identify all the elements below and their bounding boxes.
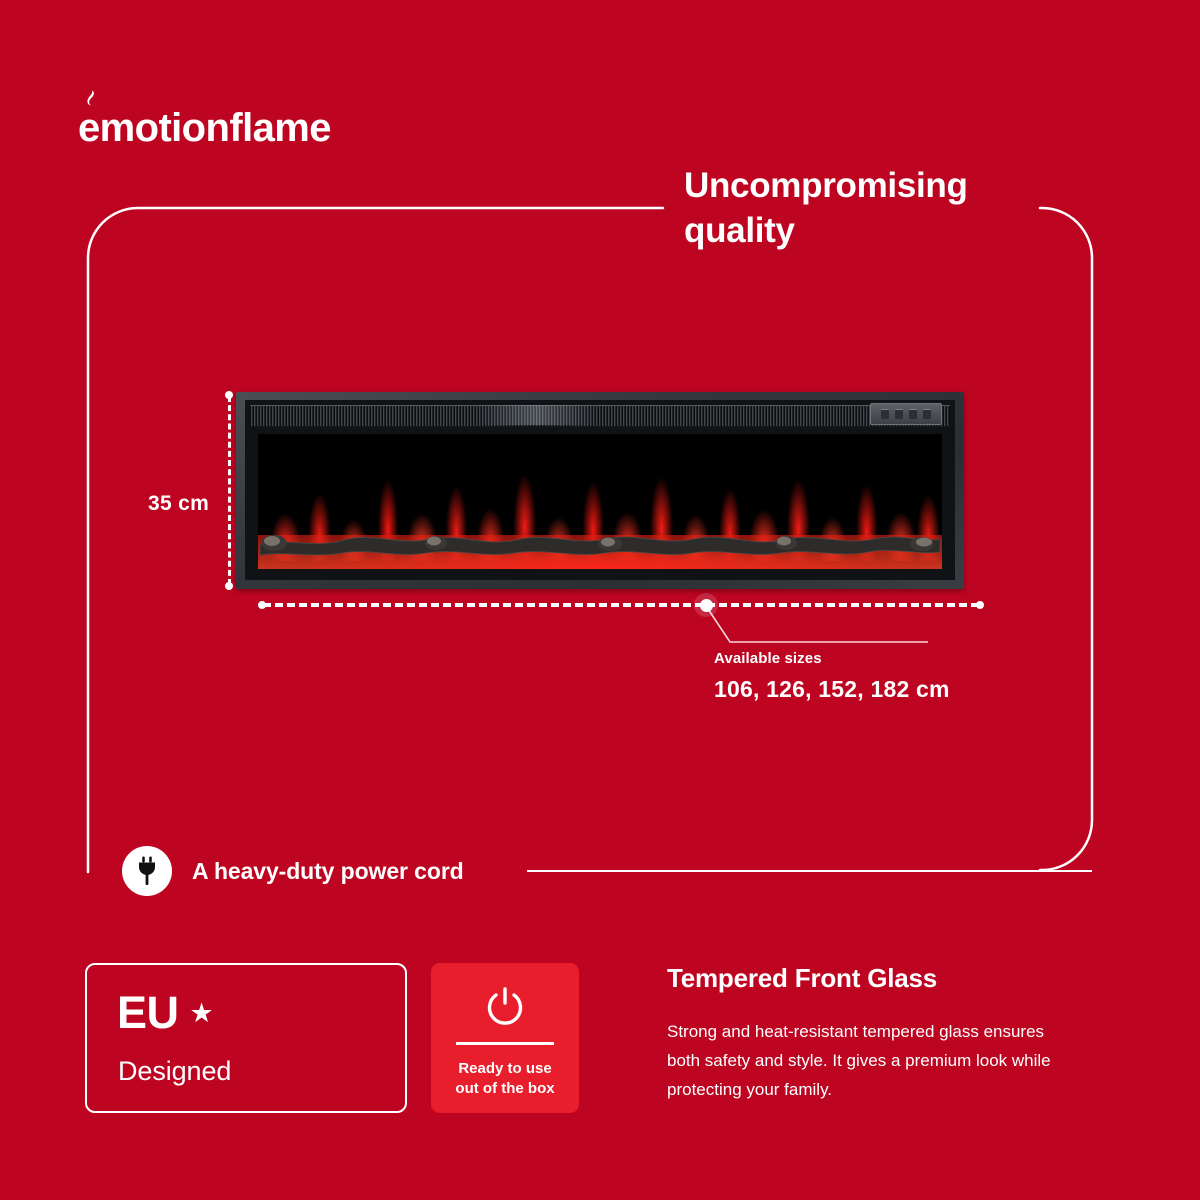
eu-heading: EU ★ bbox=[117, 990, 214, 1035]
ready-line-1: Ready to use bbox=[455, 1059, 554, 1079]
glass-title: Tempered Front Glass bbox=[667, 963, 1059, 994]
eu-subtitle: Designed bbox=[118, 1056, 231, 1087]
product-image-fireplace bbox=[236, 392, 964, 589]
dimension-endpoint-dot bbox=[976, 601, 984, 609]
brand-name: emotionflame bbox=[78, 108, 331, 148]
power-button-icon bbox=[483, 984, 527, 1028]
ready-line-2: out of the box bbox=[455, 1079, 554, 1099]
control-button bbox=[909, 409, 917, 419]
power-plug-icon bbox=[134, 856, 160, 886]
vent-grille bbox=[250, 405, 950, 427]
available-sizes-marker bbox=[694, 593, 718, 617]
control-button bbox=[895, 409, 903, 419]
dimension-endpoint-dot bbox=[225, 391, 233, 399]
log-set bbox=[258, 519, 942, 559]
control-panel bbox=[870, 403, 942, 425]
feature-power-cord: A heavy-duty power cord bbox=[122, 845, 464, 897]
section-tempered-glass: Tempered Front Glass Strong and heat-res… bbox=[667, 963, 1059, 1104]
tempered-glass-front bbox=[258, 434, 942, 569]
eu-title: EU bbox=[117, 990, 179, 1035]
control-button bbox=[881, 409, 889, 419]
control-button bbox=[923, 409, 931, 419]
dimension-endpoint-dot bbox=[258, 601, 266, 609]
card-eu-designed: EU ★ Designed bbox=[85, 963, 407, 1113]
power-cord-badge bbox=[122, 846, 172, 896]
ready-to-use-text: Ready to use out of the box bbox=[455, 1059, 554, 1099]
power-cord-connector-line bbox=[527, 870, 1092, 872]
callout-values: 106, 126, 152, 182 cm bbox=[714, 676, 1014, 703]
available-sizes-callout: Available sizes 106, 126, 152, 182 cm bbox=[714, 650, 1014, 703]
star-icon: ★ bbox=[190, 1000, 214, 1027]
headline-line-2: quality bbox=[684, 208, 1044, 253]
marker-dot bbox=[700, 599, 713, 612]
divider bbox=[456, 1042, 554, 1045]
flame-icon bbox=[83, 90, 99, 112]
glass-body: Strong and heat-resistant tempered glass… bbox=[667, 1017, 1059, 1104]
callout-title: Available sizes bbox=[714, 650, 1014, 667]
width-dimension-line bbox=[258, 601, 984, 609]
headline-line-1: Uncompromising bbox=[684, 163, 1044, 208]
dimension-endpoint-dot bbox=[225, 582, 233, 590]
power-cord-label: A heavy-duty power cord bbox=[192, 858, 464, 885]
page-title: Uncompromising quality bbox=[684, 163, 1044, 253]
card-ready-to-use: Ready to use out of the box bbox=[431, 963, 579, 1113]
dimension-dashed-line bbox=[263, 603, 979, 607]
infographic-canvas: emotionflame Uncompromising quality bbox=[0, 0, 1200, 1200]
height-dimension-label: 35 cm bbox=[148, 492, 209, 516]
brand-logo: emotionflame bbox=[78, 100, 331, 148]
height-dimension-line bbox=[228, 392, 230, 589]
vent-sheen bbox=[476, 405, 596, 425]
dimension-dashed-line bbox=[228, 396, 231, 585]
